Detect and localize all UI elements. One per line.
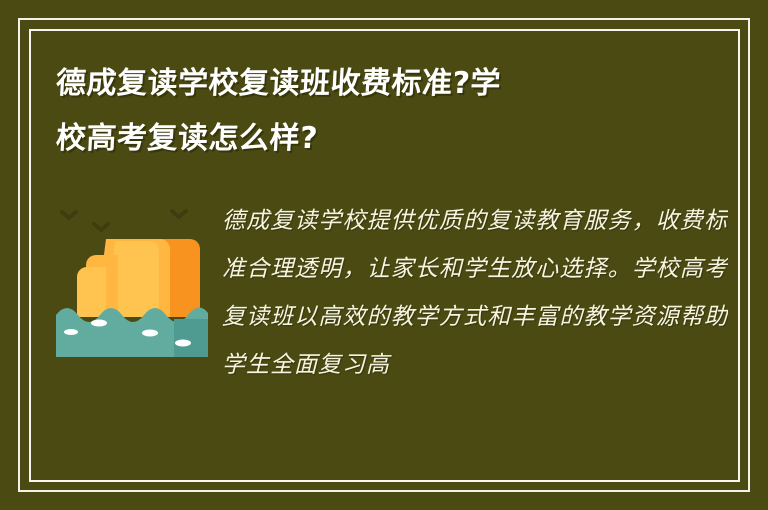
seaside-cliffs-illustration — [56, 197, 208, 357]
foam-mark-3 — [142, 330, 158, 337]
foam-mark-2 — [91, 320, 107, 327]
page-title: 德成复读学校复读班收费标准?学 校高考复读怎么样? — [56, 56, 656, 166]
sea-shadow-column — [174, 319, 208, 357]
article-body-text: 德成复读学校提供优质的复读教育服务，收费标准合理透明，让家长和学生放心选择。学校… — [222, 197, 728, 389]
rock-step-lower — [77, 267, 106, 317]
foam-mark-1 — [64, 329, 78, 335]
page-title-line-2: 校高考复读怎么样? — [55, 111, 658, 166]
illustration-svg — [56, 197, 208, 357]
foam-mark-4 — [175, 340, 191, 347]
page-title-line-1: 德成复读学校复读班收费标准?学 — [55, 56, 658, 111]
article-banner: 德成复读学校复读班收费标准?学 校高考复读怎么样? — [0, 0, 768, 510]
article-content: 德成复读学校提供优质的复读教育服务，收费标准合理透明，让家长和学生放心选择。学校… — [56, 197, 728, 389]
